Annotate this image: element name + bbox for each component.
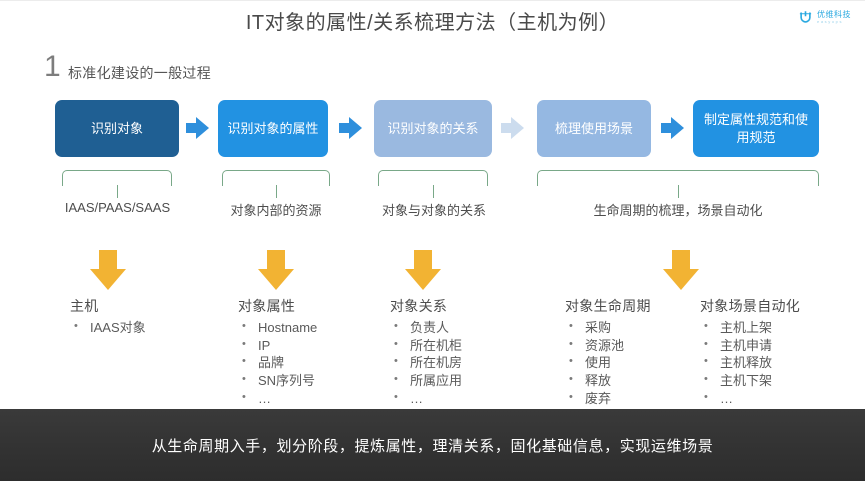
down-arrow-1-icon: [90, 250, 126, 290]
list-item: 所属应用: [390, 372, 540, 390]
result-heading: 对象关系: [390, 296, 540, 316]
page-title: IT对象的属性/关系梳理方法（主机为例）: [0, 6, 865, 35]
list-item: 废弃: [565, 390, 705, 408]
down-arrow-2-icon: [258, 250, 294, 290]
list-item: 主机上架: [700, 319, 860, 337]
list-item: 主机下架: [700, 372, 860, 390]
list-item: 所在机房: [390, 354, 540, 372]
list-item: 主机申请: [700, 337, 860, 355]
result-list: 采购 资源池 使用 释放 废弃: [565, 319, 705, 407]
bracket-2: [222, 170, 330, 196]
flow-arrow-3-icon: [501, 117, 525, 139]
result-heading: 对象场景自动化: [700, 296, 860, 316]
result-list: Hostname IP 品牌 SN序列号 …: [238, 319, 388, 407]
result-list: 负责人 所在机柜 所在机房 所属应用 …: [390, 319, 540, 407]
bracket-label-1: IAAS/PAAS/SAAS: [40, 200, 195, 215]
footer-banner: 从生命周期入手，划分阶段，提炼属性，理清关系，固化基础信息，实现运维场景: [0, 409, 865, 481]
flow-box-5[interactable]: 制定属性规范和使用规范: [693, 100, 819, 157]
list-item: 采购: [565, 319, 705, 337]
result-heading: 对象生命周期: [565, 296, 705, 316]
logo-text-cn: 优维科技: [817, 11, 851, 19]
result-list: IAAS对象: [70, 319, 220, 337]
flow-arrow-4-icon: [661, 117, 685, 139]
bracket-4: [537, 170, 819, 196]
list-item: 所在机柜: [390, 337, 540, 355]
list-item: Hostname: [238, 319, 388, 337]
down-arrow-3-icon: [405, 250, 441, 290]
top-divider: [0, 0, 865, 1]
list-item: …: [700, 390, 860, 408]
list-item: 资源池: [565, 337, 705, 355]
list-item: 释放: [565, 372, 705, 390]
list-item: IAAS对象: [70, 319, 220, 337]
result-column-lifecycle: 对象生命周期 采购 资源池 使用 释放 废弃: [565, 296, 705, 407]
list-item: IP: [238, 337, 388, 355]
bracket-1: [62, 170, 172, 196]
result-column-host: 主机 IAAS对象: [70, 296, 220, 337]
list-item: 品牌: [238, 354, 388, 372]
list-item: 主机释放: [700, 354, 860, 372]
list-item: …: [238, 390, 388, 408]
down-arrow-4-icon: [663, 250, 699, 290]
bracket-3: [378, 170, 488, 196]
section-title: 标准化建设的一般过程: [68, 63, 211, 83]
list-item: 负责人: [390, 319, 540, 337]
result-list: 主机上架 主机申请 主机释放 主机下架 …: [700, 319, 860, 407]
result-heading: 主机: [70, 296, 220, 316]
bracket-label-3: 对象与对象的关系: [358, 200, 510, 219]
brand-logo: 优维科技 easyops: [798, 10, 851, 25]
result-column-automation: 对象场景自动化 主机上架 主机申请 主机释放 主机下架 …: [700, 296, 860, 407]
list-item: 使用: [565, 354, 705, 372]
flow-box-2[interactable]: 识别对象的属性: [218, 100, 328, 157]
list-item: …: [390, 390, 540, 408]
bracket-label-2: 对象内部的资源: [200, 200, 352, 219]
flow-box-4[interactable]: 梳理使用场景: [537, 100, 651, 157]
flow-arrow-2-icon: [339, 117, 363, 139]
footer-text: 从生命周期入手，划分阶段，提炼属性，理清关系，固化基础信息，实现运维场景: [152, 435, 714, 456]
logo-text-en: easyops: [817, 20, 851, 24]
list-item: SN序列号: [238, 372, 388, 390]
flow-box-3[interactable]: 识别对象的关系: [374, 100, 492, 157]
result-heading: 对象属性: [238, 296, 388, 316]
result-column-attributes: 对象属性 Hostname IP 品牌 SN序列号 …: [238, 296, 388, 407]
flow-arrow-1-icon: [186, 117, 210, 139]
result-column-relations: 对象关系 负责人 所在机柜 所在机房 所属应用 …: [390, 296, 540, 407]
bracket-label-4: 生命周期的梳理，场景自动化: [530, 200, 826, 219]
uyun-logo-icon: [798, 10, 813, 25]
flow-box-1[interactable]: 识别对象: [55, 100, 179, 157]
slide-canvas: IT对象的属性/关系梳理方法（主机为例） 优维科技 easyops 1 标准化建…: [0, 0, 865, 481]
section-number: 1: [44, 52, 61, 82]
